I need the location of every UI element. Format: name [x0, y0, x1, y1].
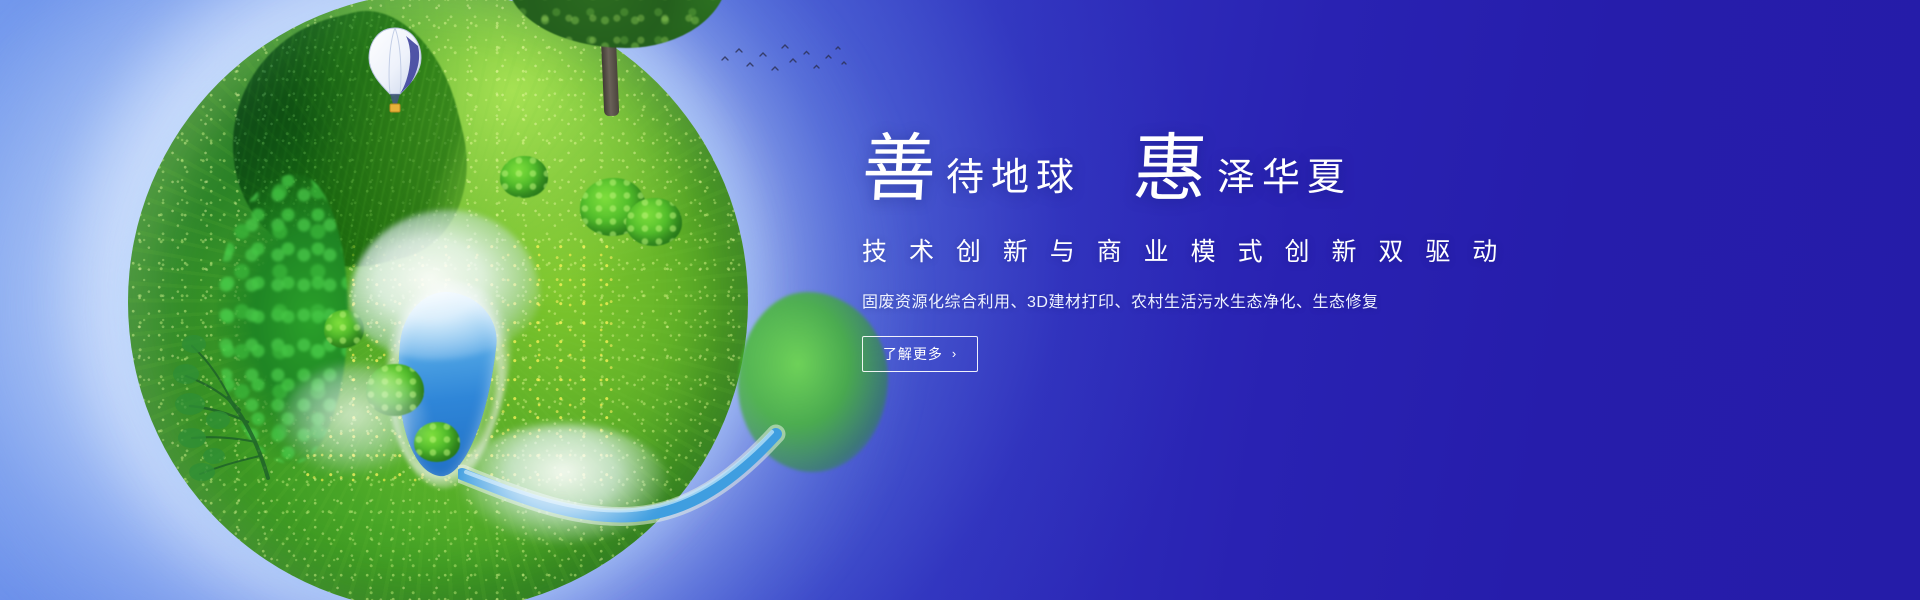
bush-icon [324, 310, 364, 348]
mountain-ridge [205, 0, 489, 292]
cloud-swirl-inner [20, 0, 780, 600]
tree-crown [506, 0, 728, 48]
sky-haze [0, 0, 540, 600]
river-icon [458, 348, 788, 538]
forest-rim [216, 174, 348, 464]
lake-icon [387, 287, 502, 480]
bush-icon [500, 156, 548, 198]
hero-banner: 善 待地球 惠 泽华夏 技 术 创 新 与 商 业 模 式 创 新 双 驱 动 … [0, 0, 1920, 600]
hero-subtitle: 技 术 创 新 与 商 业 模 式 创 新 双 驱 动 [862, 232, 1562, 268]
headline-rest-2: 泽华夏 [1217, 158, 1352, 196]
cloud-icon [278, 364, 428, 474]
headline-rest-1: 待地球 [946, 158, 1081, 196]
green-globe [128, 0, 748, 600]
hot-air-balloon-icon [366, 26, 424, 118]
silhouette-tree-icon [156, 310, 286, 482]
lake-shoreline [373, 274, 518, 494]
grass-speckle-texture [128, 0, 748, 600]
learn-more-button[interactable]: 了解更多 › [862, 336, 978, 372]
tree-trunk [600, 10, 620, 117]
hero-content: 善 待地球 惠 泽华夏 技 术 创 新 与 商 业 模 式 创 新 双 驱 动 … [862, 132, 1562, 372]
cloud-icon [458, 424, 668, 544]
planet-illustration [128, 0, 788, 600]
cloud-swirl-outer [0, 0, 930, 600]
bush-icon [366, 364, 424, 416]
headline-char-1: 善 [860, 132, 938, 206]
bush-icon [626, 198, 682, 246]
cloud-icon [350, 210, 540, 360]
bush-icon [580, 178, 646, 236]
chevron-right-icon: › [952, 347, 957, 360]
bird-flock-icon [716, 40, 848, 84]
headline-char-2: 惠 [1131, 132, 1209, 206]
hero-description: 固废资源化综合利用、3D建材打印、农村生活污水生态净化、生态修复 [862, 288, 1562, 312]
learn-more-label: 了解更多 [883, 344, 943, 364]
grass-streaks-texture [128, 0, 748, 600]
bush-icon [414, 422, 460, 462]
page-title: 善 待地球 惠 泽华夏 [862, 132, 1562, 206]
flower-dust-texture [302, 240, 624, 488]
